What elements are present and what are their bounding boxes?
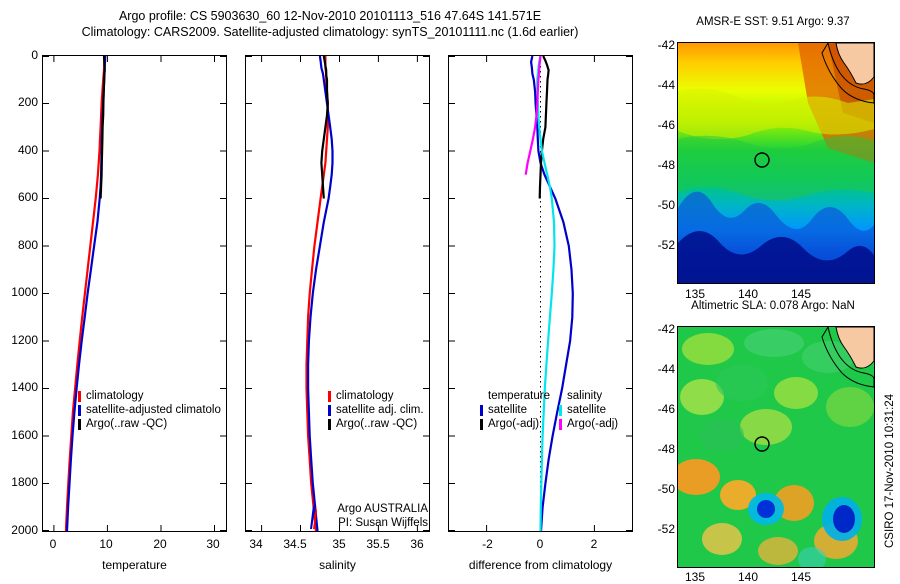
title-line-2: Climatology: CARS2009. Satellite-adjuste… <box>0 24 660 40</box>
swatch-argo-icon <box>328 419 331 430</box>
sla-lat-tick--50: -50 <box>645 482 675 496</box>
swatch-satellite-icon <box>78 405 81 416</box>
legend-item: Argo(-adj) <box>559 417 618 431</box>
salinity-tick-35: 35 <box>329 537 349 551</box>
sst-lat-tick--50: -50 <box>645 198 675 212</box>
legend-label: satellite <box>488 403 527 417</box>
sst-lat-tick--44: -44 <box>645 78 675 92</box>
sst-heatmap <box>678 43 874 283</box>
sla-lon-tick-135: 135 <box>680 570 710 584</box>
depth-tick-1200: 1200 <box>0 333 38 347</box>
sst-lat-tick--46: -46 <box>645 118 675 132</box>
depth-tick-1400: 1400 <box>0 380 38 394</box>
argo-credit-line2: PI: Susan Wijffels <box>250 517 428 531</box>
temperature-tick-0: 0 <box>43 537 63 551</box>
legend-label: climatology <box>86 389 144 403</box>
depth-tick-2000: 2000 <box>0 523 38 537</box>
sla-map <box>677 326 875 568</box>
temperature-panel <box>42 55 227 532</box>
legend-header-label: salinity <box>567 389 602 403</box>
depth-tick-800: 800 <box>3 238 38 252</box>
sla-lat-tick--44: -44 <box>645 362 675 376</box>
temperature-axis-label: temperature <box>42 558 227 572</box>
difference-plot <box>449 56 632 531</box>
argo-credit-line1: Argo AUSTRALIA <box>250 503 428 517</box>
depth-tick-200: 200 <box>3 95 38 109</box>
swatch-spacer-icon <box>480 391 483 402</box>
legend-label: Argo(-adj) <box>567 417 618 431</box>
swatch-climatology-icon <box>78 391 81 402</box>
legend-item: satellite adj. clim. <box>328 403 424 417</box>
legend-item: satellite <box>559 403 618 417</box>
legend-label: satellite-adjusted climatolo <box>86 403 221 417</box>
legend-header: temperature <box>480 389 550 403</box>
swatch-argo-icon <box>480 419 483 430</box>
sla-lat-tick--48: -48 <box>645 442 675 456</box>
depth-tick-0: 0 <box>18 48 38 62</box>
sst-lon-tick-140: 140 <box>733 287 763 301</box>
salinity-plot <box>246 56 429 531</box>
legend-item: Argo(..raw -QC) <box>328 417 424 431</box>
sst-lat-tick--42: -42 <box>645 38 675 52</box>
csiro-timestamp: CSIRO 17-Nov-2010 10:31:24 <box>884 394 896 548</box>
legend-item: satellite-adjusted climatolo <box>78 403 221 417</box>
temperature-tick-30: 30 <box>203 537 223 551</box>
salinity-panel <box>245 55 430 532</box>
depth-tick-400: 400 <box>3 143 38 157</box>
salinity-tick-36: 36 <box>407 537 427 551</box>
sst-map <box>677 42 875 284</box>
difference-legend-temperature: temperature satellite Argo(-adj) <box>480 389 550 431</box>
legend-item: climatology <box>328 389 424 403</box>
depth-tick-600: 600 <box>3 190 38 204</box>
difference-tick-neg2: -2 <box>475 537 500 551</box>
temperature-tick-20: 20 <box>150 537 170 551</box>
series-satellite-temperature <box>67 56 105 531</box>
salinity-tick-35-5: 35.5 <box>358 537 398 551</box>
legend-label: climatology <box>336 389 394 403</box>
swatch-salinity-satellite-icon <box>559 405 562 416</box>
legend-item: Argo(-adj) <box>480 417 550 431</box>
salinity-tick-34-5: 34.5 <box>275 537 315 551</box>
legend-label: Argo(..raw -QC) <box>336 417 417 431</box>
legend-item: satellite <box>480 403 550 417</box>
sla-lat-tick--52: -52 <box>645 522 675 536</box>
salinity-axis-label: salinity <box>245 558 430 572</box>
swatch-climatology-icon <box>328 391 331 402</box>
sla-lat-tick--42: -42 <box>645 322 675 336</box>
difference-legend-salinity: salinity satellite Argo(-adj) <box>559 389 618 431</box>
difference-axis-label: difference from climatology <box>448 558 633 572</box>
sla-lat-tick--46: -46 <box>645 402 675 416</box>
sst-map-title: AMSR-E SST: 9.51 Argo: 9.37 <box>668 16 878 28</box>
temperature-legend: climatology satellite-adjusted climatolo… <box>78 389 221 431</box>
legend-header-label: temperature <box>488 389 550 403</box>
legend-label: Argo(..raw -QC) <box>86 417 167 431</box>
sla-heatmap <box>678 327 874 567</box>
legend-label: satellite <box>567 403 606 417</box>
salinity-legend: climatology satellite adj. clim. Argo(..… <box>328 389 424 431</box>
difference-tick-0: 0 <box>530 537 550 551</box>
depth-tick-1800: 1800 <box>0 475 38 489</box>
swatch-salinity-argo-icon <box>559 419 562 430</box>
difference-panel <box>448 55 633 532</box>
temperature-tick-10: 10 <box>96 537 116 551</box>
salinity-tick-34: 34 <box>246 537 266 551</box>
sla-lon-tick-145: 145 <box>786 570 816 584</box>
legend-label: satellite adj. clim. <box>336 403 424 417</box>
legend-item: climatology <box>78 389 221 403</box>
sst-lat-tick--52: -52 <box>645 238 675 252</box>
swatch-satellite-icon <box>480 405 483 416</box>
sst-lon-tick-145: 145 <box>786 287 816 301</box>
difference-tick-2: 2 <box>584 537 604 551</box>
swatch-satellite-icon <box>328 405 331 416</box>
page-title: Argo profile: CS 5903630_60 12-Nov-2010 … <box>0 8 660 40</box>
temperature-plot <box>43 56 226 531</box>
sst-lat-tick--48: -48 <box>645 158 675 172</box>
sla-lon-tick-140: 140 <box>733 570 763 584</box>
legend-header: salinity <box>559 389 618 403</box>
legend-item: Argo(..raw -QC) <box>78 417 221 431</box>
legend-label: Argo(-adj) <box>488 417 539 431</box>
sst-lon-tick-135: 135 <box>680 287 710 301</box>
swatch-argo-icon <box>78 419 81 430</box>
argo-credit: Argo AUSTRALIA PI: Susan Wijffels <box>250 503 428 530</box>
swatch-spacer-icon <box>559 391 562 402</box>
sla-map-title: Altimetric SLA: 0.078 Argo: NaN <box>668 300 878 312</box>
depth-tick-1000: 1000 <box>0 285 38 299</box>
title-line-1: Argo profile: CS 5903630_60 12-Nov-2010 … <box>0 8 660 24</box>
depth-tick-1600: 1600 <box>0 428 38 442</box>
